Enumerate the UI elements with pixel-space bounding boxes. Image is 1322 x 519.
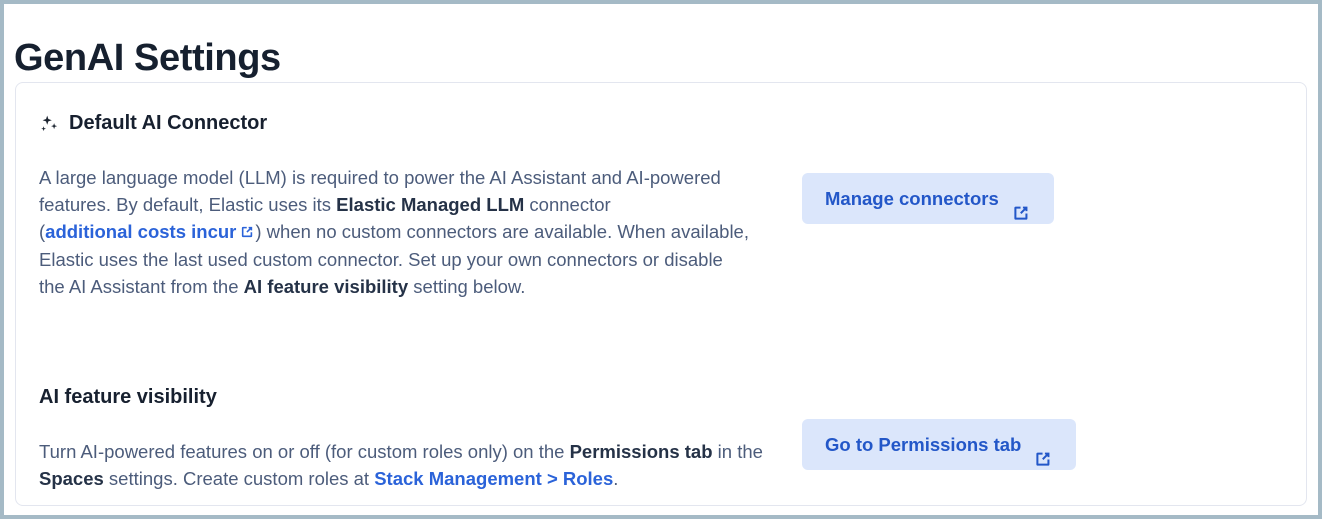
go-to-permissions-tab-button[interactable]: Go to Permissions tab <box>802 419 1076 470</box>
desc-bold-elastic-managed-llm: Elastic Managed LLM <box>336 194 524 215</box>
sparkles-icon <box>39 114 60 135</box>
external-link-icon <box>1034 436 1053 455</box>
section-heading-default-ai-connector: Default AI Connector <box>39 109 267 137</box>
desc-bold-permissions-tab: Permissions tab <box>570 441 713 462</box>
stack-management-roles-link[interactable]: Stack Management > Roles <box>374 468 613 489</box>
page-title: GenAI Settings <box>14 33 281 83</box>
desc-text-part4: . <box>613 468 618 489</box>
section-heading-label: Default AI Connector <box>69 109 267 137</box>
desc-bold-ai-feature-visibility: AI feature visibility <box>244 276 409 297</box>
additional-costs-incur-link-label: additional costs incur <box>45 221 236 242</box>
external-link-icon <box>1012 190 1031 209</box>
desc-text-part2: in the <box>713 441 763 462</box>
section-heading-ai-feature-visibility: AI feature visibility <box>39 383 217 411</box>
go-to-permissions-tab-button-label: Go to Permissions tab <box>825 419 1021 470</box>
additional-costs-incur-link[interactable]: additional costs incur <box>45 221 255 242</box>
manage-connectors-button[interactable]: Manage connectors <box>802 173 1054 224</box>
section-description-ai-feature-visibility: Turn AI-powered features on or off (for … <box>39 438 769 493</box>
desc-text-part3: settings. Create custom roles at <box>104 468 374 489</box>
desc-bold-spaces: Spaces <box>39 468 104 489</box>
desc-text-part1: Turn AI-powered features on or off (for … <box>39 441 570 462</box>
section-heading-label: AI feature visibility <box>39 383 217 411</box>
desc-text-part4: setting below. <box>408 276 525 297</box>
settings-panel: Default AI Connector A large language mo… <box>15 82 1307 506</box>
section-description-default-ai-connector: A large language model (LLM) is required… <box>39 164 751 301</box>
app-window: GenAI Settings Default AI Connector A la… <box>0 0 1322 519</box>
external-link-icon <box>240 219 255 234</box>
manage-connectors-button-label: Manage connectors <box>825 173 999 224</box>
